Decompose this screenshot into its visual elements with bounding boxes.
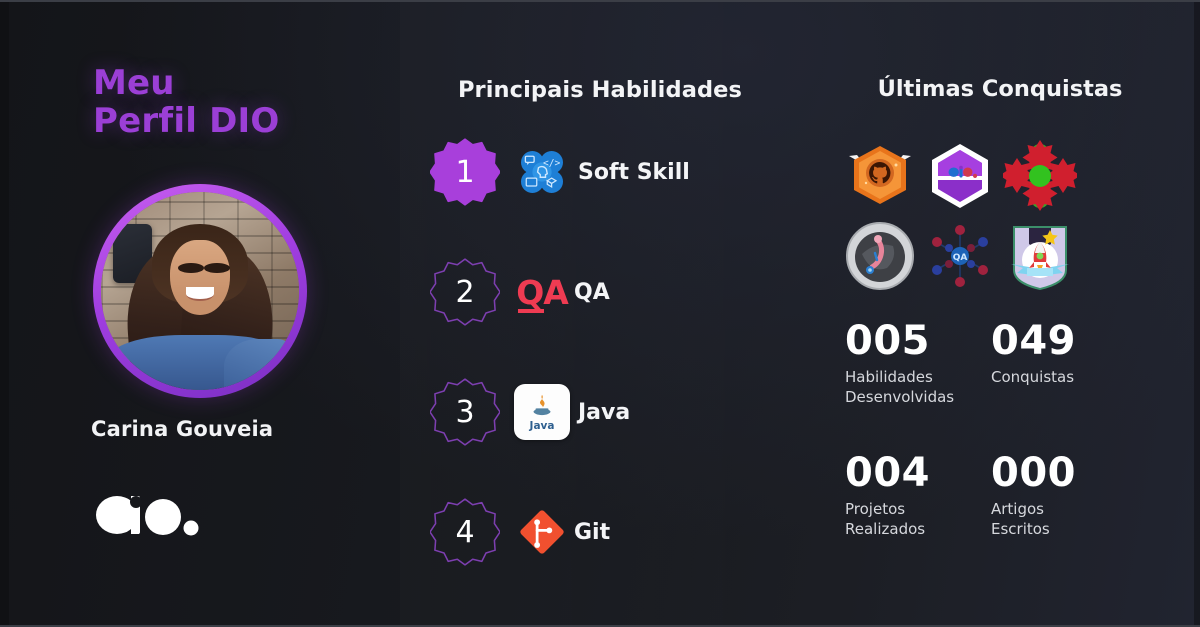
achievement-badges: QA	[838, 136, 1092, 296]
qa-logo-icon: QA	[512, 262, 572, 322]
skill-row[interactable]: 1 </> Soft Sk	[430, 137, 690, 207]
stats-grid: 005 Habilidades Desenvolvidas 049 Conqui…	[845, 320, 1137, 540]
skills-column: Principais Habilidades 1	[400, 2, 800, 627]
avatar-smile	[186, 287, 214, 301]
stat-label-line1: Habilidades	[845, 368, 991, 388]
avatar	[101, 192, 299, 390]
stat-item: 049 Conquistas	[991, 320, 1137, 408]
rank-number: 2	[455, 275, 474, 310]
stat-value: 005	[845, 320, 991, 362]
dio-hexagon-badge[interactable]	[918, 136, 1002, 216]
stat-value: 049	[991, 320, 1137, 362]
stat-label-line1: Conquistas	[991, 368, 1137, 388]
page-title-line2: Perfil DIO	[93, 102, 279, 140]
stat-label: Habilidades Desenvolvidas	[845, 368, 991, 408]
skill-row[interactable]: 2 QA QA	[430, 257, 610, 327]
stat-value: 004	[845, 452, 991, 494]
stat-label: Artigos Escritos	[991, 500, 1137, 540]
rank-badge-1: 1	[430, 137, 500, 207]
stat-label-line2: Escritos	[991, 520, 1137, 540]
profile-card: Meu Perfil DIO Carina Gouveia	[0, 0, 1200, 627]
achievements-column: Últimas Conquistas	[800, 2, 1200, 627]
stat-label-line2: Realizados	[845, 520, 991, 540]
rank-badge-2: 2	[430, 257, 500, 327]
stat-item: 000 Artigos Escritos	[991, 452, 1137, 540]
rank-number: 1	[455, 155, 474, 190]
dio-logo	[95, 490, 200, 540]
skill-label: Soft Skill	[578, 160, 690, 185]
avatar-jacket-right	[224, 339, 291, 390]
svg-text:QA: QA	[953, 253, 968, 263]
rank-badge-4: 4	[430, 497, 500, 567]
user-name: Carina Gouveia	[91, 417, 273, 441]
stat-item: 005 Habilidades Desenvolvidas	[845, 320, 991, 408]
rank-number: 3	[455, 395, 474, 430]
stat-item: 004 Projetos Realizados	[845, 452, 991, 540]
avatar-face	[170, 240, 229, 315]
avatar-eye-right	[204, 263, 230, 273]
page-title-line1: Meu	[93, 63, 175, 103]
rank-number: 4	[455, 515, 474, 550]
stat-label-line1: Artigos	[991, 500, 1137, 520]
gray-circle-badge[interactable]	[838, 216, 922, 296]
stat-label-line1: Projetos	[845, 500, 991, 520]
skill-label: Java	[578, 400, 630, 425]
stat-label-line2: Desenvolvidas	[845, 388, 991, 408]
skill-row[interactable]: 4 Git	[430, 497, 610, 567]
profile-column: Meu Perfil DIO Carina Gouveia	[0, 2, 400, 627]
qa-molecule-badge[interactable]: QA	[918, 216, 1002, 296]
git-logo-icon	[512, 502, 572, 562]
qa-logo-text: QA	[516, 276, 568, 309]
java-logo-icon: Java	[512, 382, 572, 442]
avatar-ring	[93, 184, 307, 398]
rank-badge-3: 3	[430, 377, 500, 447]
achievements-heading: Últimas Conquistas	[800, 76, 1200, 102]
stat-label: Conquistas	[991, 368, 1137, 388]
stat-value: 000	[991, 452, 1137, 494]
skill-row[interactable]: 3 Java Java	[430, 377, 630, 447]
svg-text:</>: </>	[543, 158, 561, 169]
skill-label: Git	[574, 520, 610, 545]
skill-label: QA	[574, 280, 610, 305]
java-wordmark: Java	[530, 420, 555, 432]
github-hexagon-badge[interactable]	[838, 136, 922, 216]
skills-heading: Principais Habilidades	[400, 77, 800, 103]
stat-label: Projetos Realizados	[845, 500, 991, 540]
red-flower-badge[interactable]	[998, 136, 1082, 216]
page-title: Meu Perfil DIO	[93, 64, 279, 140]
soft-skill-icon: </>	[512, 142, 572, 202]
rocket-shield-badge[interactable]	[998, 216, 1082, 296]
